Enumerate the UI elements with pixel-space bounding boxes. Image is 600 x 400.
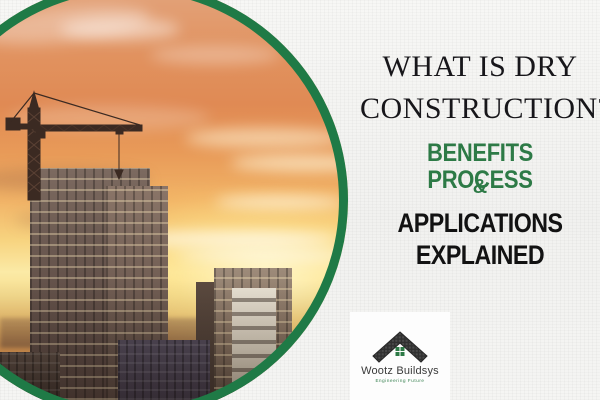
roof-chevron-with-window-icon bbox=[371, 329, 429, 363]
brand-logo-card[interactable]: Wootz Buildsys Engineering Future bbox=[350, 312, 450, 400]
ampersand-separator: & bbox=[360, 175, 600, 199]
logo-brand-name: Wootz Buildsys bbox=[361, 365, 439, 377]
logo-tagline: Engineering Future bbox=[375, 378, 424, 383]
blog-banner: WHAT IS DRY CONSTRUCTION? BENEFITS PROCE… bbox=[0, 0, 600, 400]
headline-applications-explained: APPLICATIONS EXPLAINED bbox=[377, 207, 583, 271]
headline-line-2: EXPLAINED bbox=[377, 239, 583, 271]
headline-line-1: APPLICATIONS bbox=[377, 207, 583, 239]
title-line-2: CONSTRUCTION? bbox=[360, 88, 600, 130]
title-line-1: WHAT IS DRY bbox=[360, 46, 600, 88]
page-title: WHAT IS DRY CONSTRUCTION? bbox=[360, 46, 600, 130]
